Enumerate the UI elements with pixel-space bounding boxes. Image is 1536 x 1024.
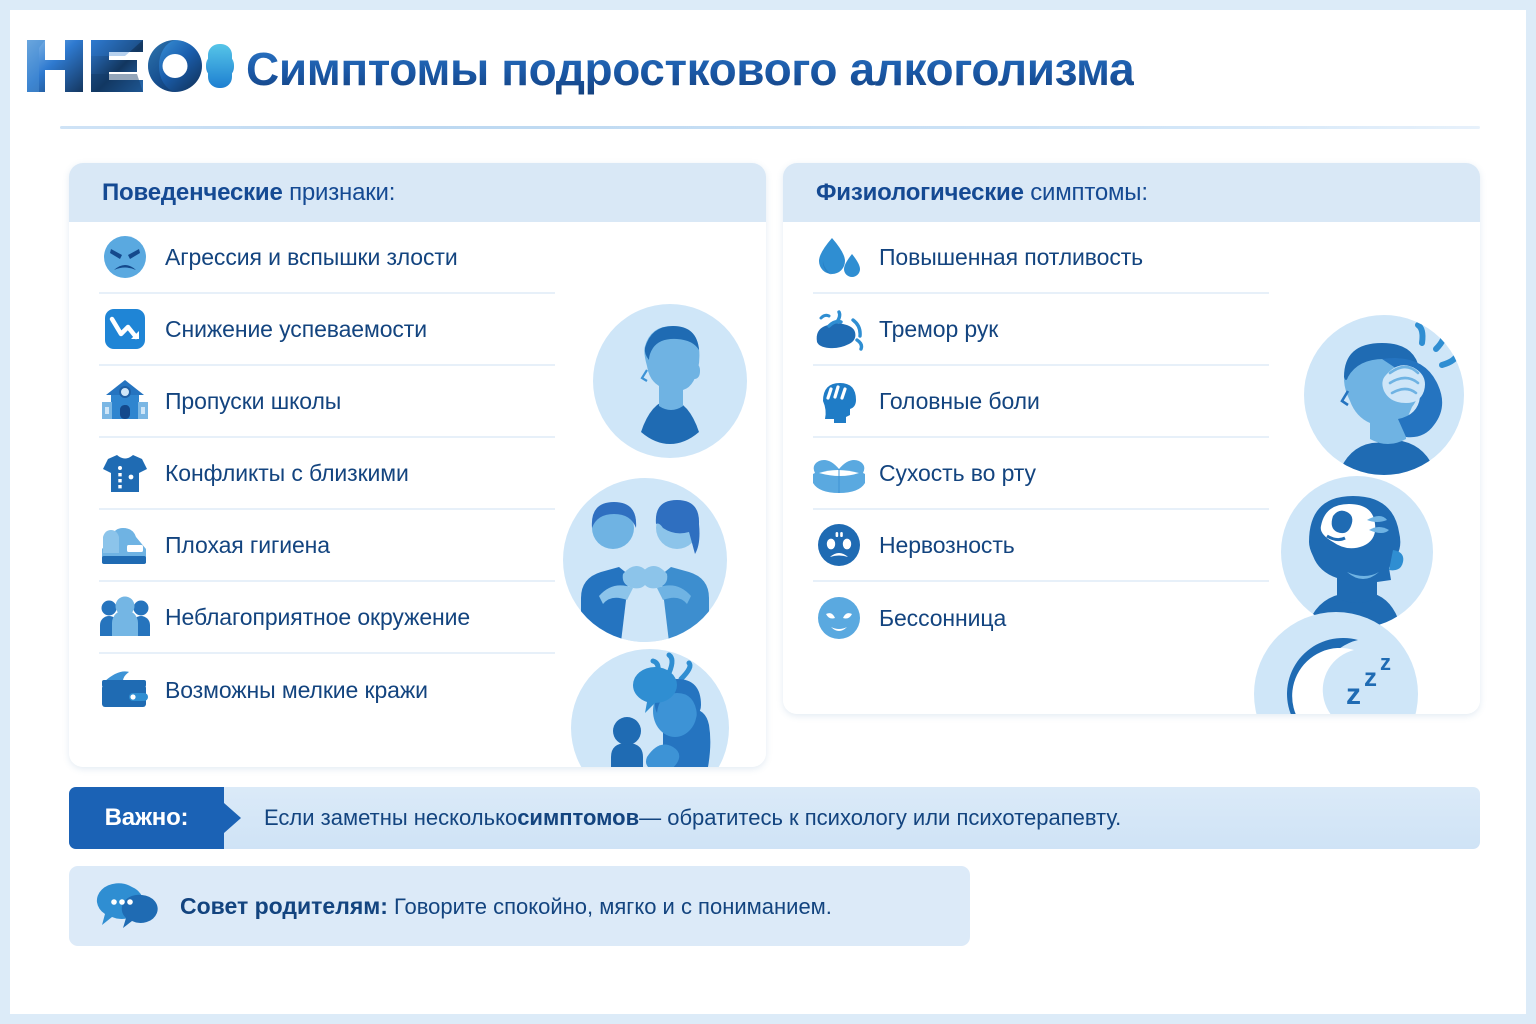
list-item-label: Агрессия и вспышки злости bbox=[165, 244, 458, 271]
list-item[interactable]: Возможны мелкие кражи bbox=[99, 654, 555, 726]
wallet-icon bbox=[99, 664, 151, 716]
headache-illustration bbox=[1304, 315, 1464, 475]
infographic-page: HEO+ Симптомы подросткового алкоголизма … bbox=[10, 10, 1526, 1014]
important-text-bold: симптомов bbox=[517, 805, 639, 831]
header: HEO+ Симптомы подросткового алкоголизма bbox=[10, 10, 1526, 128]
panel-physiological-body: Повышенная потливость Тремор рук Головны… bbox=[783, 222, 1480, 714]
head-pain-icon bbox=[813, 375, 865, 427]
list-item[interactable]: Сухость во рту bbox=[813, 438, 1269, 510]
sleep-moon-illustration: z z z bbox=[1254, 612, 1418, 714]
shaking-hand-icon bbox=[813, 303, 865, 355]
panel-behavioral-signs: Поведенческие признаки: Агрессия и вспыш… bbox=[69, 163, 766, 767]
panel-physiological-symptoms: Физиологические симптомы: Повышенная пот… bbox=[783, 163, 1480, 714]
worried-face-icon bbox=[813, 519, 865, 571]
panel-physiological-title-strong: Физиологические bbox=[816, 179, 1024, 206]
list-item[interactable]: Агрессия и вспышки злости bbox=[99, 222, 555, 294]
brain-nerves-illustration bbox=[1281, 476, 1433, 628]
panel-behavioral-title-light: признаки: bbox=[283, 179, 396, 206]
list-item-label: Возможны мелкие кражи bbox=[165, 677, 428, 704]
tired-face-icon bbox=[813, 592, 865, 644]
physiological-list: Повышенная потливость Тремор рук Головны… bbox=[813, 222, 1269, 654]
family-conflict-illustration bbox=[563, 478, 727, 642]
panel-physiological-header: Физиологические симптомы: bbox=[783, 163, 1480, 222]
list-item[interactable]: Головные боли bbox=[813, 366, 1269, 438]
list-item-label: Сухость во рту bbox=[879, 460, 1036, 487]
list-item[interactable]: Тремор рук bbox=[813, 294, 1269, 366]
svg-text:z: z bbox=[1380, 650, 1391, 675]
list-item[interactable]: Повышенная потливость bbox=[813, 222, 1269, 294]
group-of-people-icon bbox=[99, 591, 151, 643]
svg-text:z: z bbox=[1364, 662, 1377, 692]
advice-body: Говорите спокойно, мягко и с пониманием. bbox=[388, 894, 832, 919]
backpack-icon bbox=[99, 519, 151, 571]
list-item-label: Плохая гигиена bbox=[165, 532, 330, 559]
behavioral-list: Агрессия и вспышки злости Снижение успев… bbox=[99, 222, 555, 726]
list-item[interactable]: Нервозность bbox=[813, 510, 1269, 582]
list-item[interactable]: Плохая гигиена bbox=[99, 510, 555, 582]
panel-behavioral-title-strong: Поведенческие bbox=[102, 179, 283, 206]
svg-text:z: z bbox=[1346, 678, 1361, 711]
declining-chart-icon bbox=[99, 303, 151, 355]
school-building-icon bbox=[99, 375, 151, 427]
list-item-label: Повышенная потливость bbox=[879, 244, 1143, 271]
important-banner: Важно: Если заметны несколько симптомов … bbox=[69, 787, 1480, 849]
conversation-illustration bbox=[571, 649, 729, 767]
teen-portrait-illustration bbox=[593, 304, 747, 458]
panel-physiological-title: Физиологические симптомы: bbox=[816, 179, 1148, 207]
panel-physiological-title-light: симптомы: bbox=[1024, 179, 1148, 206]
list-item[interactable]: Пропуски школы bbox=[99, 366, 555, 438]
tshirt-icon bbox=[99, 447, 151, 499]
title-divider bbox=[60, 126, 1480, 129]
list-item-label: Пропуски школы bbox=[165, 388, 341, 415]
list-item[interactable]: Снижение успеваемости bbox=[99, 294, 555, 366]
angry-face-icon bbox=[99, 231, 151, 283]
panel-behavioral-title: Поведенческие признаки: bbox=[102, 179, 395, 207]
list-item[interactable]: Неблагоприятное окружение bbox=[99, 582, 555, 654]
important-text-before: Если заметны несколько bbox=[264, 805, 517, 831]
page-title: Симптомы подросткового алкоголизма bbox=[246, 42, 1134, 96]
important-banner-text: Если заметны несколько симптомов — обрат… bbox=[224, 787, 1121, 849]
advice-label: Совет родителям: bbox=[180, 893, 388, 919]
neo-plus-logo: HEO+ bbox=[25, 32, 237, 98]
important-text-after: — обратитесь к психологу или психотерапе… bbox=[639, 805, 1121, 831]
panel-behavioral-header: Поведенческие признаки: bbox=[69, 163, 766, 222]
list-item[interactable]: Конфликты с близкими bbox=[99, 438, 555, 510]
water-drops-icon bbox=[813, 231, 865, 283]
panel-behavioral-body: Агрессия и вспышки злости Снижение успев… bbox=[69, 222, 766, 767]
list-item-label: Нервозность bbox=[879, 532, 1015, 559]
list-item-label: Головные боли bbox=[879, 388, 1040, 415]
advice-banner: Совет родителям: Говорите спокойно, мягк… bbox=[69, 866, 970, 946]
list-item-label: Снижение успеваемости bbox=[165, 316, 427, 343]
list-item-label: Конфликты с близкими bbox=[165, 460, 409, 487]
list-item-label: Бессонница bbox=[879, 605, 1006, 632]
lips-icon bbox=[813, 447, 865, 499]
list-item-label: Тремор рук bbox=[879, 316, 998, 343]
speech-bubbles-icon bbox=[96, 881, 162, 931]
important-badge: Важно: bbox=[69, 787, 224, 849]
list-item[interactable]: Бессонница bbox=[813, 582, 1269, 654]
list-item-label: Неблагоприятное окружение bbox=[165, 604, 470, 631]
advice-banner-text: Совет родителям: Говорите спокойно, мягк… bbox=[180, 893, 832, 920]
